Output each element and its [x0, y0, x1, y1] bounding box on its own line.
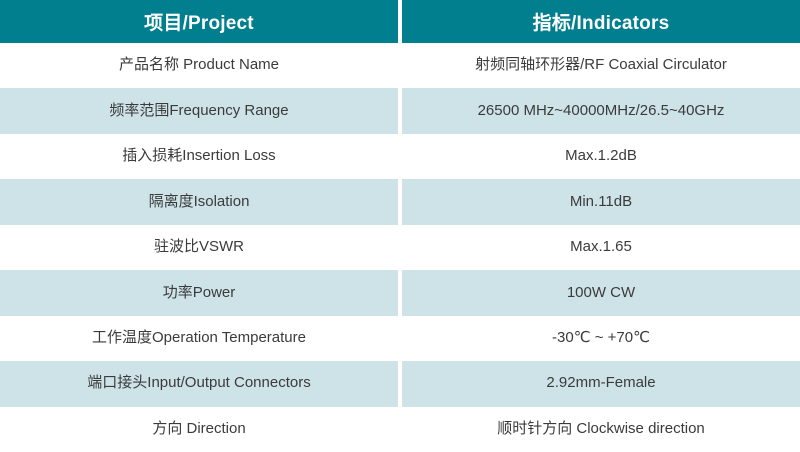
table-row: 端口接头Input/Output Connectors 2.92mm-Femal…: [0, 361, 800, 406]
cell-project: 工作温度Operation Temperature: [0, 316, 398, 361]
table-row: 方向 Direction 顺时针方向 Clockwise direction: [0, 407, 800, 452]
table-header-indicators: 指标/Indicators: [402, 0, 800, 43]
cell-indicator: Max.1.65: [402, 225, 800, 270]
cell-project: 产品名称 Product Name: [0, 43, 398, 88]
table-row: 频率范围Frequency Range 26500 MHz~40000MHz/2…: [0, 88, 800, 133]
table-row: 功率Power 100W CW: [0, 270, 800, 315]
cell-indicator: 100W CW: [402, 270, 800, 315]
cell-project: 驻波比VSWR: [0, 225, 398, 270]
table-row: 工作温度Operation Temperature -30℃ ~ +70℃: [0, 316, 800, 361]
cell-project: 方向 Direction: [0, 407, 398, 452]
cell-indicator: Min.11dB: [402, 179, 800, 224]
table-row: 产品名称 Product Name 射频同轴环形器/RF Coaxial Cir…: [0, 43, 800, 88]
cell-indicator: 射频同轴环形器/RF Coaxial Circulator: [402, 43, 800, 88]
cell-project: 插入损耗Insertion Loss: [0, 134, 398, 179]
cell-indicator: Max.1.2dB: [402, 134, 800, 179]
cell-indicator: 顺时针方向 Clockwise direction: [402, 407, 800, 452]
cell-project: 功率Power: [0, 270, 398, 315]
cell-project: 频率范围Frequency Range: [0, 88, 398, 133]
cell-indicator: 2.92mm-Female: [402, 361, 800, 406]
table-row: 隔离度Isolation Min.11dB: [0, 179, 800, 224]
cell-project: 隔离度Isolation: [0, 179, 398, 224]
cell-indicator: 26500 MHz~40000MHz/26.5~40GHz: [402, 88, 800, 133]
table-header-row: 项目/Project 指标/Indicators: [0, 0, 800, 43]
table-row: 插入损耗Insertion Loss Max.1.2dB: [0, 134, 800, 179]
table-header-project: 项目/Project: [0, 0, 398, 43]
table-row: 驻波比VSWR Max.1.65: [0, 225, 800, 270]
cell-project: 端口接头Input/Output Connectors: [0, 361, 398, 406]
cell-indicator: -30℃ ~ +70℃: [402, 316, 800, 361]
specification-table: 项目/Project 指标/Indicators 产品名称 Product Na…: [0, 0, 800, 452]
